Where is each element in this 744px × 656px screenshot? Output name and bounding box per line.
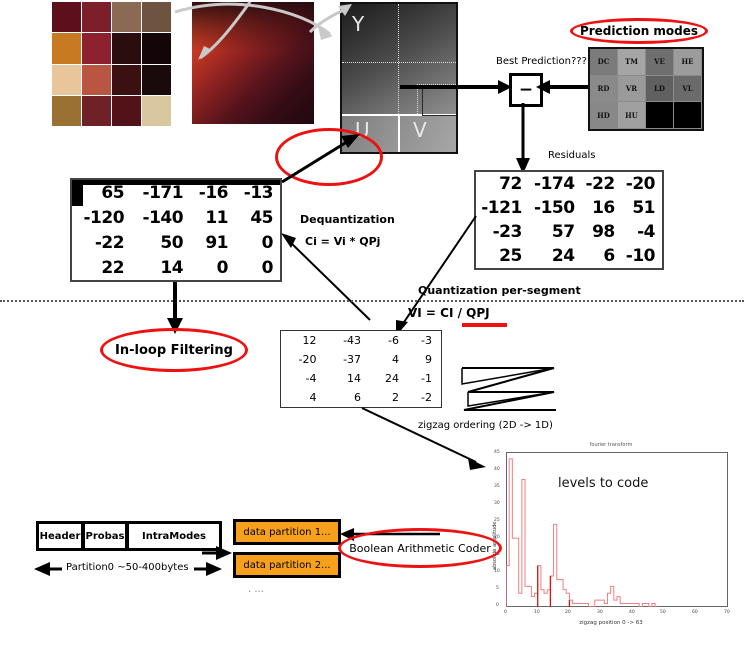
boolean-coder-label: Boolean Arithmetic Coder [349, 542, 491, 555]
data-partition-2: data partition 2... [233, 552, 341, 578]
data-partition-1: data partition 1... [233, 519, 341, 545]
boolean-coder-callout: Boolean Arithmetic Coder [338, 528, 502, 568]
data-partition-ellipsis: . ... [248, 584, 264, 595]
partition0-span-label: Partition0 ~50-400bytes [66, 562, 189, 573]
